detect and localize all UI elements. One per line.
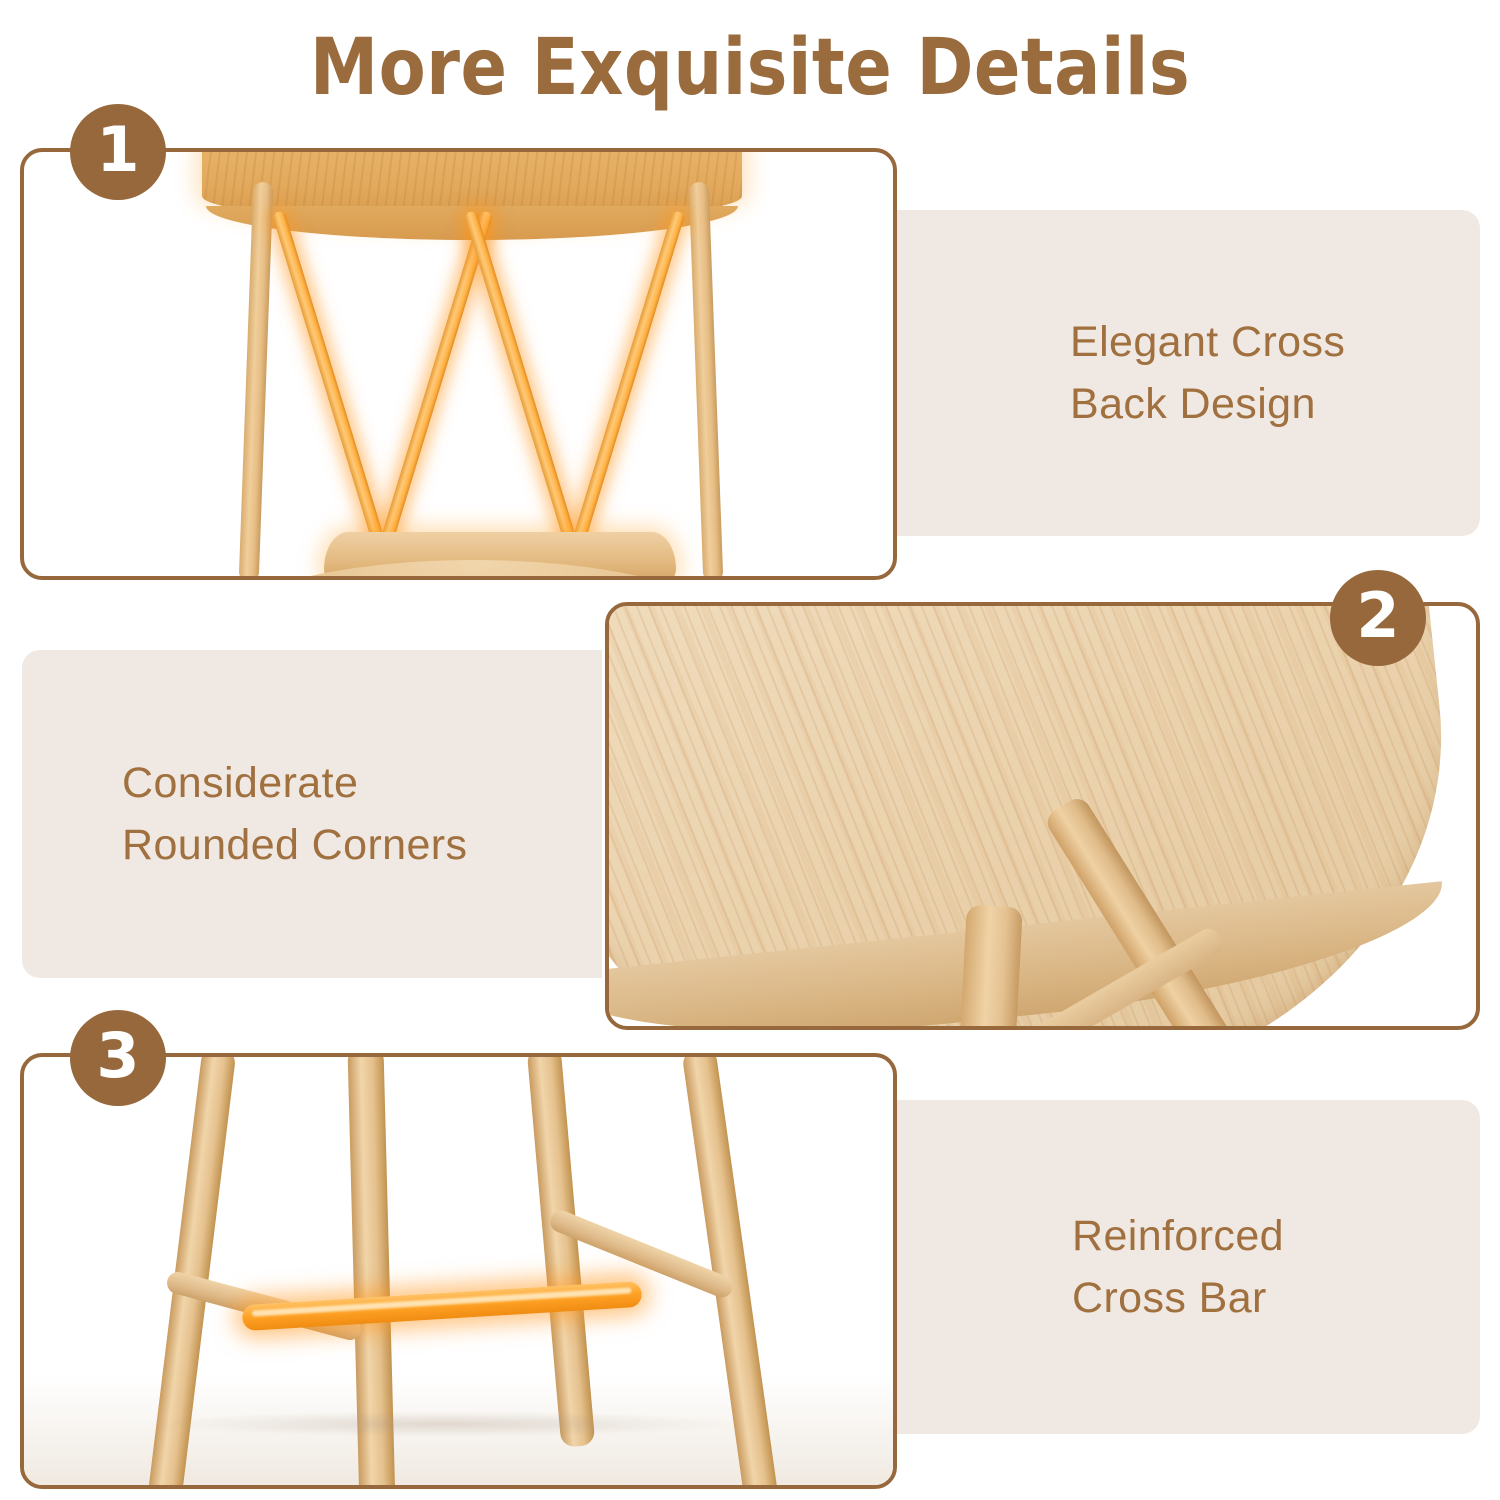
chair-stile-left — [239, 182, 274, 576]
feature-2-text-panel: Considerate Rounded Corners — [22, 650, 602, 978]
feature-1-photo-card — [20, 148, 897, 580]
feature-3-text-panel: Reinforced Cross Bar — [897, 1100, 1480, 1434]
chair-back-cross-spindles-image — [24, 152, 893, 576]
feature-3-number-badge: 3 — [70, 1010, 166, 1106]
feature-1-number-badge: 1 — [70, 104, 166, 200]
cross-spindle-1 — [272, 210, 390, 558]
chair-legs-cross-bar-image — [24, 1057, 893, 1485]
feature-1-text-panel: Elegant Cross Back Design — [895, 210, 1480, 536]
feature-2-number-badge: 2 — [1330, 570, 1426, 666]
cross-spindle-3 — [464, 210, 582, 558]
feature-3-photo-card — [20, 1053, 897, 1489]
feature-2-photo-card — [605, 602, 1480, 1030]
chair-stile-right — [689, 182, 724, 576]
cross-spindle-4 — [568, 210, 686, 558]
feature-1-heading: Elegant Cross Back Design — [1070, 311, 1345, 436]
feature-2-heading: Considerate Rounded Corners — [122, 752, 467, 877]
cross-spindle-2 — [376, 210, 494, 558]
page-title: More Exquisite Details — [90, 28, 1410, 110]
floor-shadow — [144, 1411, 744, 1437]
feature-3-heading: Reinforced Cross Bar — [1072, 1205, 1284, 1330]
chair-seat-rounded-corner-image — [609, 606, 1476, 1026]
